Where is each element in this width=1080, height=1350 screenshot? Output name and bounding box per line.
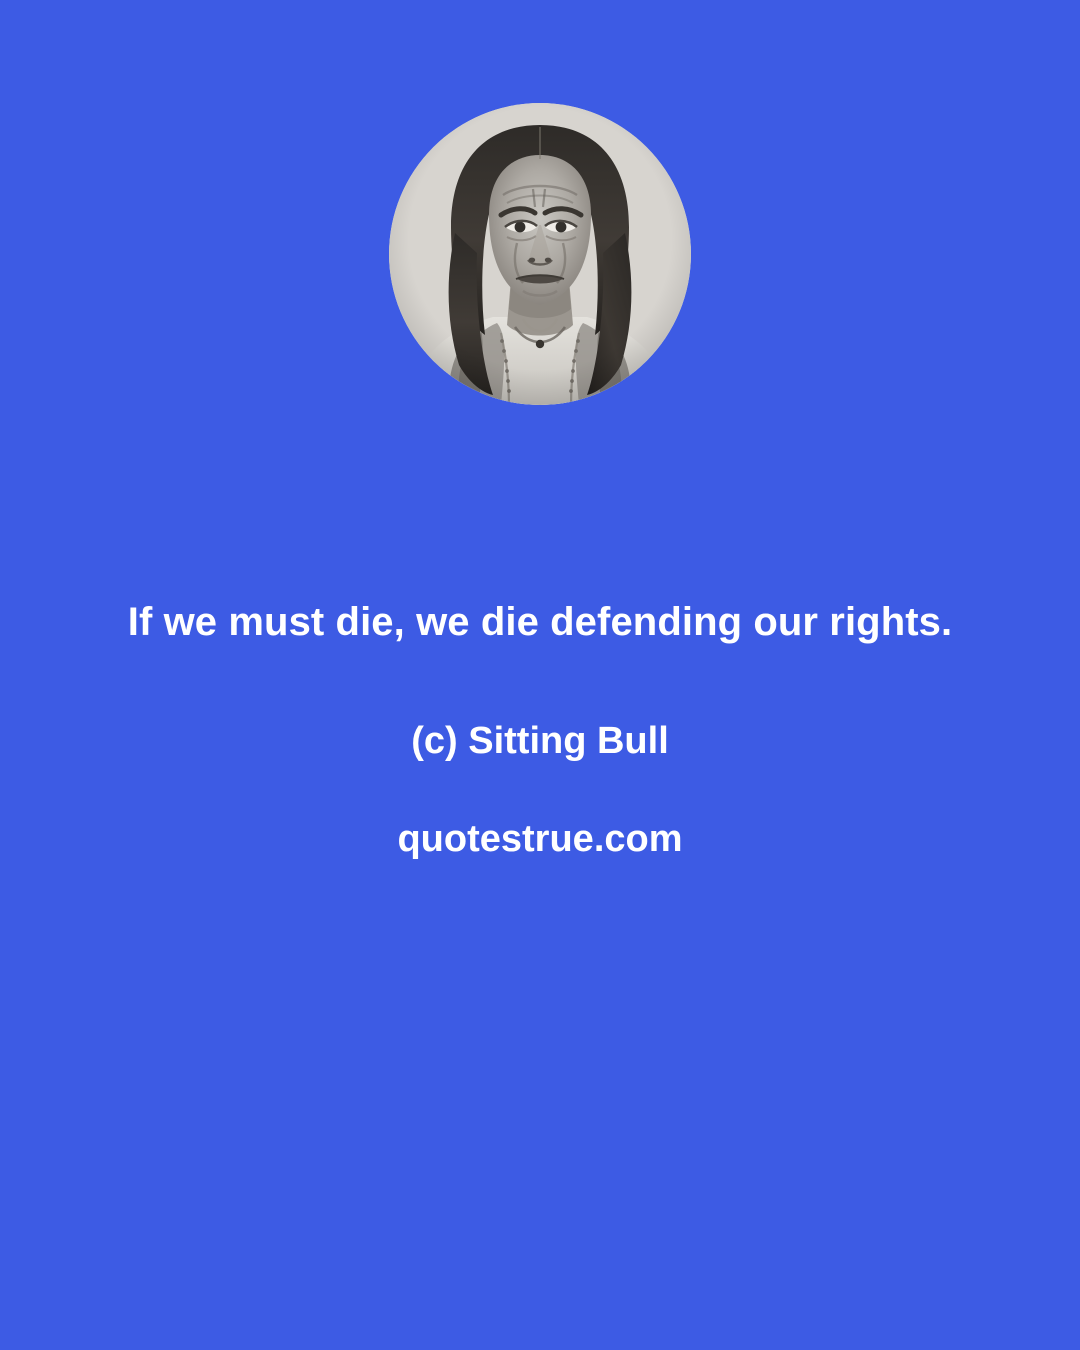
quote-text: If we must die, we die defending our rig… — [0, 575, 1080, 670]
source-website: quotestrue.com — [0, 816, 1080, 862]
quote-attribution: (c) Sitting Bull — [0, 718, 1080, 764]
quote-text-block: If we must die, we die defending our rig… — [0, 575, 1080, 862]
portrait-photo-sitting-bull-icon — [389, 103, 691, 405]
quote-card: If we must die, we die defending our rig… — [0, 0, 1080, 1350]
portrait-avatar — [389, 103, 691, 405]
